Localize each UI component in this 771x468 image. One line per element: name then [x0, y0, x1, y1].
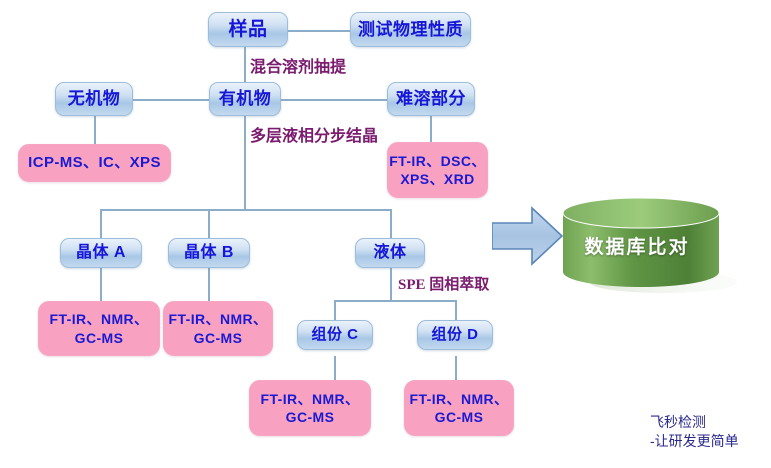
connector-inorganic-to-methods: [94, 116, 96, 144]
branch-bar-organic: [100, 209, 392, 211]
node-fraction-d[interactable]: 组份 D: [417, 320, 493, 350]
node-crystal-b[interactable]: 晶体 B: [168, 238, 250, 268]
connector-inorganic-to-organic: [133, 99, 209, 101]
node-sample[interactable]: 样品: [208, 12, 288, 47]
branch-bar-liquid: [334, 300, 456, 302]
connector-branch-to-crystal-a: [100, 209, 102, 238]
connector-fraction-c-to-methods: [334, 356, 336, 380]
connector-branch-to-crystal-b: [208, 209, 210, 238]
process-label-spe: SPE 固相萃取: [398, 273, 489, 294]
connector-sample-to-physicaltest: [288, 30, 350, 32]
connector-liquid-to-spe-branch: [390, 266, 392, 301]
connector-organic-to-insoluble: [281, 99, 387, 101]
methods-fraction-c[interactable]: FT-IR、NMR、 GC-MS: [249, 380, 371, 436]
methods-crystal-a[interactable]: FT-IR、NMR、 GC-MS: [38, 301, 160, 356]
process-label-crystallization: 多层液相分步结晶: [250, 122, 378, 146]
methods-insoluble-label: FT-IR、DSC、 XPS、XRD: [389, 152, 486, 188]
node-fraction-d-label: 组份 D: [431, 326, 478, 343]
node-inorganic[interactable]: 无机物: [55, 82, 133, 116]
connector-branch-to-liquid: [390, 209, 392, 238]
node-crystal-a-label: 晶体 A: [76, 244, 126, 262]
node-organic-label: 有机物: [219, 89, 272, 109]
node-liquid-label: 液体: [373, 244, 406, 262]
node-fraction-c-label: 组份 C: [311, 326, 358, 343]
methods-crystal-a-label: FT-IR、NMR、 GC-MS: [50, 310, 149, 346]
node-crystal-b-label: 晶体 B: [184, 244, 234, 262]
flowchart-canvas: 样品 测试物理性质 无机物 有机物 难溶部分 晶体 A 晶体 B 液体 组份 C…: [0, 0, 771, 468]
node-crystal-a[interactable]: 晶体 A: [60, 238, 142, 268]
node-fraction-c[interactable]: 组份 C: [297, 320, 373, 350]
watermark-text: 飞秒检测 -让研发更简单: [650, 413, 739, 451]
node-physical-test-label: 测试物理性质: [358, 20, 463, 40]
process-label-extraction: 混合溶剂抽提: [250, 53, 346, 77]
connector-branch-to-fraction-c: [334, 300, 336, 320]
connector-fraction-d-to-methods: [455, 356, 457, 380]
methods-fraction-d[interactable]: FT-IR、NMR、 GC-MS: [404, 380, 514, 436]
connector-crystal-a-to-methods: [100, 266, 102, 301]
methods-inorganic-label: ICP-MS、IC、XPS: [28, 153, 161, 173]
node-physical-test[interactable]: 测试物理性质: [350, 12, 471, 47]
methods-fraction-d-label: FT-IR、NMR、 GC-MS: [410, 390, 509, 426]
database-label: 数据库比对: [553, 232, 721, 259]
methods-crystal-b-label: FT-IR、NMR、 GC-MS: [169, 310, 268, 346]
methods-fraction-c-label: FT-IR、NMR、 GC-MS: [261, 390, 360, 426]
node-liquid[interactable]: 液体: [355, 238, 425, 268]
connector-organic-to-branch: [244, 116, 246, 210]
connector-insoluble-to-methods: [430, 116, 432, 142]
connector-crystal-b-to-methods: [208, 266, 210, 301]
connector-branch-to-fraction-d: [455, 300, 457, 320]
node-insoluble[interactable]: 难溶部分: [387, 82, 475, 116]
methods-insoluble[interactable]: FT-IR、DSC、 XPS、XRD: [387, 142, 488, 198]
methods-crystal-b[interactable]: FT-IR、NMR、 GC-MS: [163, 301, 273, 356]
node-insoluble-label: 难溶部分: [396, 89, 466, 109]
node-sample-label: 样品: [228, 19, 267, 41]
node-organic[interactable]: 有机物: [209, 82, 281, 116]
methods-inorganic[interactable]: ICP-MS、IC、XPS: [18, 144, 171, 182]
database-cylinder[interactable]: 数据库比对: [553, 196, 721, 284]
node-inorganic-label: 无机物: [68, 89, 121, 109]
